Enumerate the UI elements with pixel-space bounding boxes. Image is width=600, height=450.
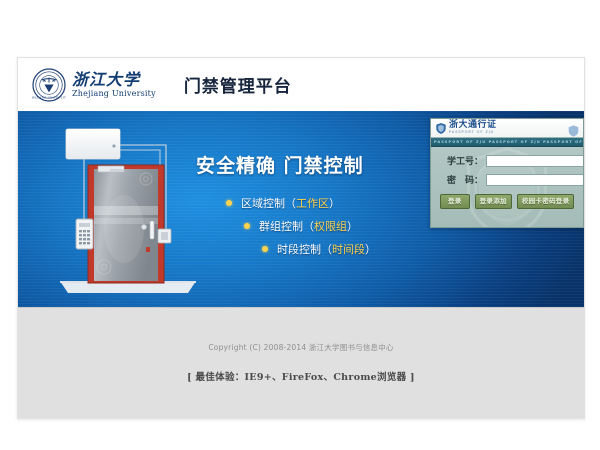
site-footer: Copyright (C) 2008-2014 浙江大学图书与信息中心 [ 最佳… xyxy=(18,307,584,418)
feature-accent: 工作区 xyxy=(296,195,329,211)
feature-label: 时段控制（ xyxy=(277,241,332,257)
bullet-dot-icon xyxy=(226,200,232,206)
bullet-dot-icon xyxy=(262,246,268,252)
site-header: ZHEJIANG UNIVERSITY 浙江大学 Zhejiang Univer… xyxy=(18,58,584,111)
password-label: 密 码： xyxy=(439,173,486,186)
shield-icon xyxy=(436,119,446,138)
feature-item-area-control: 区域控制（工作区） xyxy=(196,195,421,211)
access-control-door-illustration xyxy=(46,121,206,301)
feature-tail: ） xyxy=(329,195,340,211)
userid-label: 学工号： xyxy=(439,154,486,167)
app-card: ZHEJIANG UNIVERSITY 浙江大学 Zhejiang Univer… xyxy=(17,57,585,419)
feature-item-group-control: 群组控制（权限组） xyxy=(196,218,421,234)
feature-tail: ） xyxy=(365,241,376,257)
feature-accent: 权限组 xyxy=(314,218,347,234)
password-row: 密 码： xyxy=(439,173,575,186)
feature-item-time-control: 时段控制（时间段） xyxy=(196,241,421,257)
login-button-row: 登录 登录添加 校园卡密码登录 xyxy=(431,192,583,209)
hero-headline: 安全精确 门禁控制 xyxy=(196,151,421,178)
passport-marquee-strip: PASSPORT OF ZJU PASSPORT OF ZJU PASSPORT… xyxy=(431,138,583,147)
logo-english-name: Zhejiang University xyxy=(72,90,156,98)
passport-marquee-text: PASSPORT OF ZJU PASSPORT OF ZJU PASSPORT… xyxy=(431,140,583,144)
page-title: 门禁管理平台 xyxy=(184,72,292,97)
userid-field[interactable] xyxy=(486,155,584,167)
login-panel: 浙大通行证 PASSPORT OF ZJU PASSPORT OF ZJU PA… xyxy=(430,118,584,228)
copyright-text: Copyright (C) 2008-2014 浙江大学图书与信息中心 xyxy=(18,308,584,353)
login-button[interactable]: 登录 xyxy=(440,194,470,209)
userid-row: 学工号： xyxy=(439,154,575,167)
feature-label: 区域控制（ xyxy=(241,195,296,211)
feature-label: 群组控制（ xyxy=(259,218,314,234)
zju-seal-icon: ZHEJIANG UNIVERSITY xyxy=(32,68,66,102)
hero-pitch: 安全精确 门禁控制 区域控制（工作区） 群组控制（权限组） 时段控制（时间段） xyxy=(196,151,421,273)
password-field[interactable] xyxy=(486,174,584,186)
login-panel-title: 浙大通行证 xyxy=(449,121,497,130)
browser-support-note: [ 最佳体验：IE9+、FireFox、Chrome浏览器 ] xyxy=(18,369,584,383)
feature-list: 区域控制（工作区） 群组控制（权限组） 时段控制（时间段） xyxy=(196,195,421,257)
bullet-dot-icon xyxy=(244,223,250,229)
login-panel-subtitle: PASSPORT OF ZJU xyxy=(449,131,497,135)
login-add-button[interactable]: 登录添加 xyxy=(475,194,512,209)
feature-accent: 时间段 xyxy=(332,241,365,257)
logo-chinese-name: 浙江大学 xyxy=(72,72,156,88)
svg-text:ZHEJIANG UNIVERSITY: ZHEJIANG UNIVERSITY xyxy=(32,95,66,99)
login-panel-header: 浙大通行证 PASSPORT OF ZJU xyxy=(431,119,583,138)
logo-wordmark: 浙江大学 Zhejiang University xyxy=(72,72,156,98)
campus-card-login-button[interactable]: 校园卡密码登录 xyxy=(517,194,575,209)
page-root: ZHEJIANG UNIVERSITY 浙江大学 Zhejiang Univer… xyxy=(0,0,600,450)
login-panel-title-block: 浙大通行证 PASSPORT OF ZJU xyxy=(449,121,497,135)
login-form: 学工号： 密 码： xyxy=(431,147,583,186)
feature-tail: ） xyxy=(347,218,358,234)
hero-banner: 安全精确 门禁控制 区域控制（工作区） 群组控制（权限组） 时段控制（时间段） xyxy=(18,111,584,307)
